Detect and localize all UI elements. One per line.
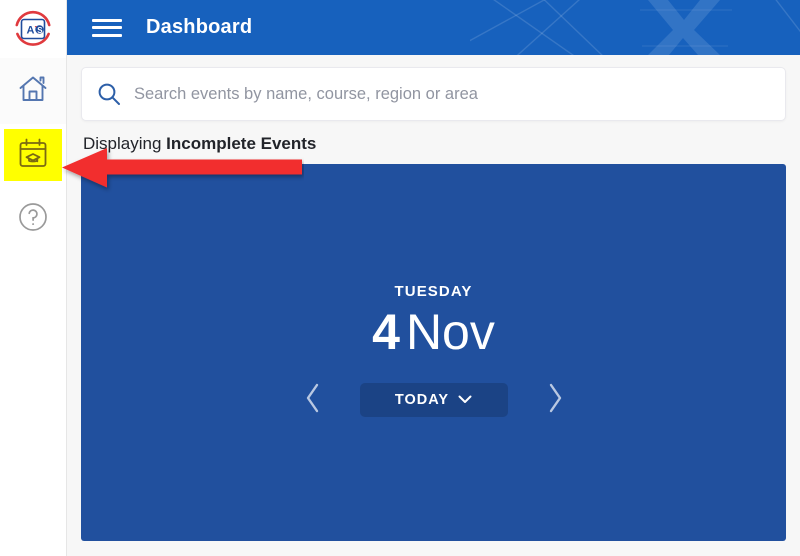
next-day-button[interactable] [538,378,572,422]
header-watermark-graphic [470,0,800,55]
sidebar-logo[interactable]: A Y S [0,0,66,58]
page-title: Dashboard [146,16,252,39]
hamburger-line [92,19,122,22]
chevron-left-icon [303,382,323,419]
main-column: Dashboard Displaying Incomplete Events T… [67,0,800,556]
sidebar: A Y S [0,0,67,556]
weekday-label: TUESDAY [395,283,473,300]
date-display: 4Nov [372,306,495,359]
today-button-label: TODAY [395,392,449,408]
svg-text:S: S [37,26,43,35]
help-circle-icon [16,200,50,239]
filter-status-value: Incomplete Events [166,134,316,153]
sidebar-item-home[interactable] [0,58,66,124]
hamburger-line [92,34,122,37]
app-root: A Y S [0,0,800,556]
hamburger-icon[interactable] [92,17,122,39]
content-area: Displaying Incomplete Events TUESDAY 4No… [67,55,800,556]
sidebar-item-events[interactable] [4,129,62,181]
sidebar-item-help[interactable] [0,186,66,252]
prev-day-button[interactable] [296,378,330,422]
filter-status-prefix: Displaying [83,134,161,153]
app-header: Dashboard [67,0,800,55]
chevron-down-icon [458,392,472,408]
day-number: 4 [372,304,400,360]
sidebar-item-events-wrapper [0,124,66,186]
chevron-right-icon [545,382,565,419]
filter-status: Displaying Incomplete Events [81,134,786,154]
search-input[interactable] [134,85,785,104]
search-bar[interactable] [81,67,786,121]
month-name: Nov [406,304,495,360]
search-icon [96,81,122,107]
home-icon [16,72,50,111]
date-navigation: TODAY [296,378,572,422]
today-button[interactable]: TODAY [360,383,508,417]
ayso-logo-icon: A Y S [11,7,55,51]
calendar-graduation-icon [16,136,50,175]
date-card: TUESDAY 4Nov TODAY [81,164,786,541]
svg-text:A: A [27,25,35,37]
hamburger-line [92,26,122,29]
